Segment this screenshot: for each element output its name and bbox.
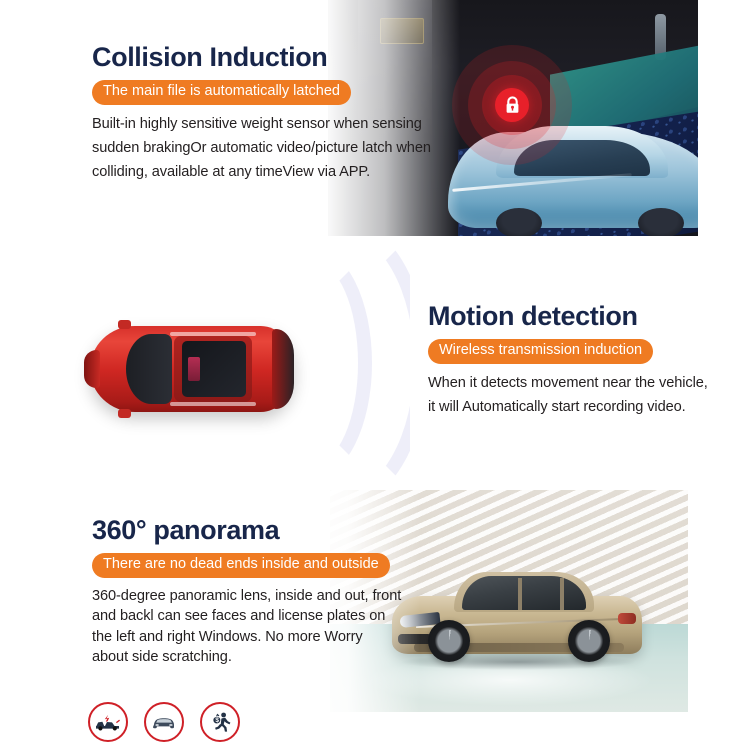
- parked-car-wheel-front: [496, 208, 542, 236]
- red-car-mirror-left: [118, 320, 131, 329]
- collision-signal-rings: [452, 45, 572, 165]
- section-heading: Collision Induction: [92, 43, 437, 71]
- feature-icon-row: $: [88, 702, 240, 742]
- red-car-windshield: [126, 334, 172, 404]
- red-car-roof-rail-bottom: [170, 402, 256, 406]
- gold-sedan-b-pillar: [518, 578, 522, 610]
- theft-running-person-icon[interactable]: $: [200, 702, 240, 742]
- car-collision-icon[interactable]: [88, 702, 128, 742]
- gold-sedan: [392, 564, 642, 660]
- photo-white-margin-right: [698, 0, 750, 236]
- collision-induction-text: Collision Induction The main file is aut…: [92, 43, 437, 184]
- section-motion-detection: Motion detection Wireless transmission i…: [0, 236, 750, 490]
- red-car-topdown: [90, 326, 294, 412]
- red-car-mirror-right: [118, 409, 131, 418]
- parked-car-wheel-rear: [638, 208, 684, 236]
- gold-sedan-taillight: [618, 613, 636, 624]
- gold-sedan-wheel-front: [428, 620, 470, 662]
- section-heading: Motion detection: [428, 302, 718, 330]
- motion-detection-photo: [38, 238, 410, 488]
- section-body: When it detects movement near the vehicl…: [428, 372, 718, 419]
- motion-detection-text: Motion detection Wireless transmission i…: [428, 302, 718, 420]
- panorama-text: 360° panorama There are no dead ends ins…: [92, 516, 402, 667]
- lock-icon: [495, 88, 529, 122]
- section-collision-induction: Collision Induction The main file is aut…: [0, 0, 750, 236]
- panorama-photo-white-margin-right: [688, 490, 750, 750]
- svg-text:$: $: [215, 717, 219, 724]
- section-body: 360-degree panoramic lens, inside and ou…: [92, 586, 402, 667]
- red-car-rear: [272, 329, 294, 409]
- car-front-icon[interactable]: [144, 702, 184, 742]
- red-car-roof-rail-top: [170, 332, 256, 336]
- red-car-sunroof: [182, 341, 246, 397]
- red-car-nose: [84, 350, 100, 388]
- gold-sedan-wheel-rear: [568, 620, 610, 662]
- section-body: Built-in highly sensitive weight sensor …: [92, 113, 437, 184]
- product-feature-infographic: Collision Induction The main file is aut…: [0, 0, 750, 750]
- section-badge: There are no dead ends inside and outsid…: [92, 553, 390, 578]
- section-badge: The main file is automatically latched: [92, 80, 351, 105]
- gold-sedan-glass: [462, 576, 586, 610]
- section-heading: 360° panorama: [92, 516, 402, 544]
- section-badge: Wireless transmission induction: [428, 339, 653, 364]
- gold-sedan-c-pillar: [560, 578, 564, 610]
